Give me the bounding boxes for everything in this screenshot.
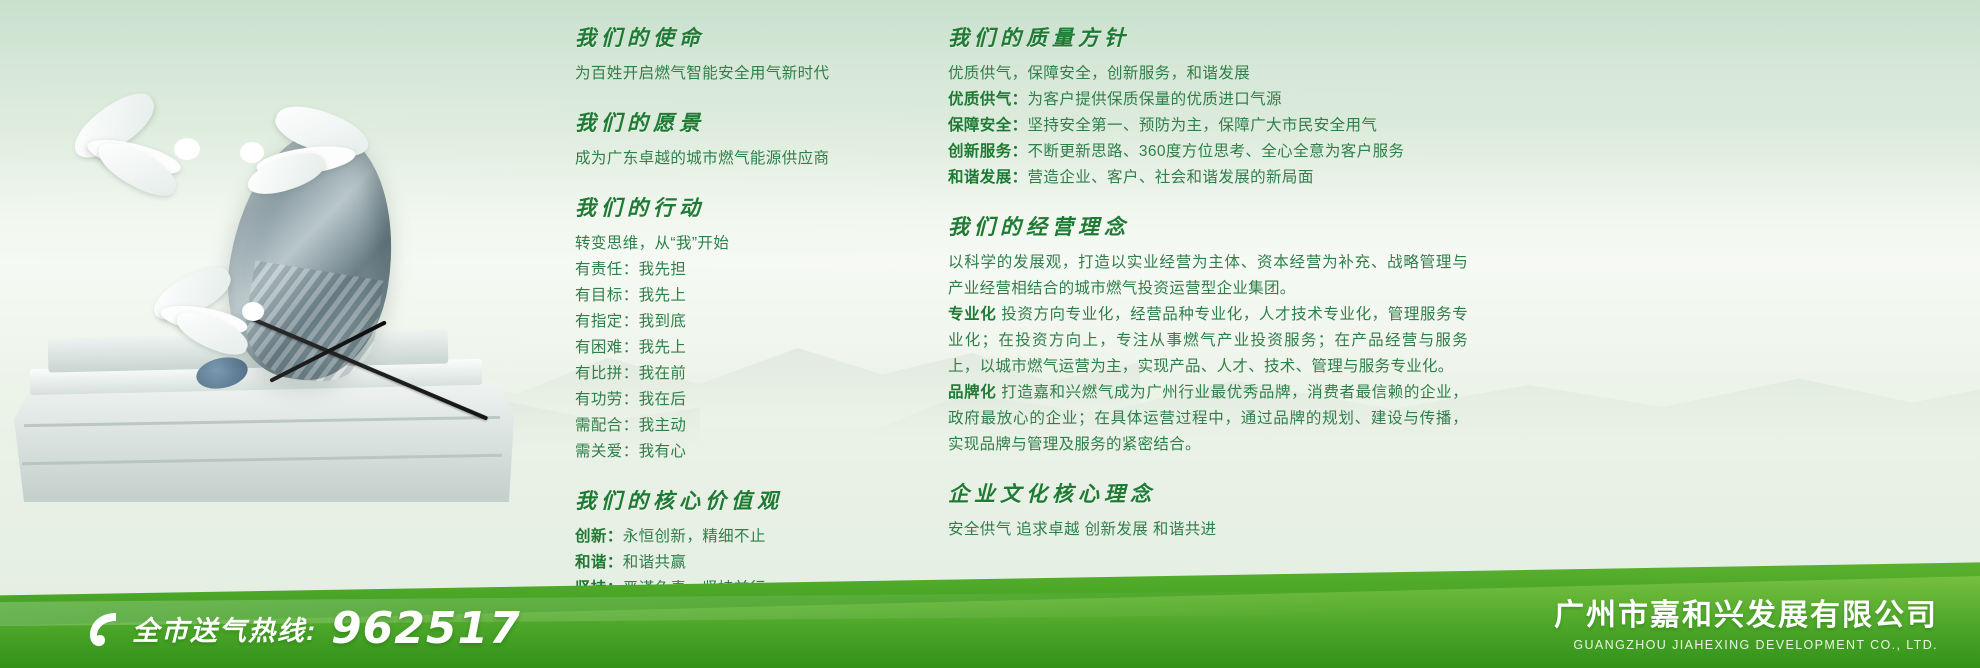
action-item: 有功劳：我在后 [575,387,925,413]
quality-item-text: 坚持安全第一、预防为主，保障广大市民安全用气 [1028,117,1378,134]
action-item: 有责任：我先担 [575,257,925,283]
culture-core-line: 安全供气 追求卓越 创新发展 和谐共进 [948,517,1468,543]
quality-item-sep: ： [1012,143,1028,160]
action-item: 需关爱：我有心 [575,439,925,465]
business-philosophy-heading: 我们的经营理念 [948,211,1468,241]
quality-item-text: 营造企业、客户、社会和谐发展的新局面 [1028,169,1314,186]
core-value-sep: ： [607,528,623,545]
dove-head [242,302,264,321]
philosophy-point-label: 专业化 [948,306,996,323]
philosophy-point-label: 品牌化 [948,384,996,401]
quality-item-label: 保障安全 [948,117,1012,134]
philosophy-point-text: 投资方向专业化，经营品种专业化，人才技术专业化，管理服务专业化；在投资方向上，专… [948,306,1468,375]
quality-item-sep: ： [1012,117,1028,134]
action-item: 需配合：我主动 [575,413,925,439]
culture-core-heading: 企业文化核心理念 [948,478,1468,508]
dove-icon-3 [120,272,280,358]
quality-policy-lead: 优质供气，保障安全，创新服务，和谐发展 [948,61,1468,87]
philosophy-point-text: 打造嘉和兴燃气成为广州行业最优秀品牌，消费者最信赖的企业，政府最放心的企业；在具… [948,384,1468,453]
hotline-label: 全市送气热线: [132,609,317,648]
core-values-heading: 我们的核心价值观 [575,485,925,515]
dove-head [174,138,200,160]
section-mission: 我们的使命 为百姓开启燃气智能安全用气新时代 [575,22,925,87]
dove-icon-1 [28,100,208,196]
core-value-item: 创新：永恒创新，精细不止 [575,524,925,550]
quality-item-label: 和谐发展 [948,169,1012,186]
quality-item-text: 不断更新思路、360度方位思考、全心全意为客户服务 [1028,143,1405,160]
quality-item-label: 优质供气 [948,91,1012,108]
section-quality-policy: 我们的质量方针 优质供气，保障安全，创新服务，和谐发展 优质供气：为客户提供保质… [948,22,1468,191]
business-philosophy-point: 品牌化 打造嘉和兴燃气成为广州行业最优秀品牌，消费者最信赖的企业，政府最放心的企… [948,380,1468,458]
vision-line: 成为广东卓越的城市燃气能源供应商 [575,146,925,172]
quality-item-text: 为客户提供保质保量的优质进口气源 [1028,91,1282,108]
action-item: 有困难：我先上 [575,335,925,361]
mission-heading: 我们的使命 [575,22,925,52]
action-heading: 我们的行动 [575,192,925,222]
dove-head [240,142,264,163]
business-philosophy-point: 专业化 投资方向专业化，经营品种专业化，人才技术专业化，管理服务专业化；在投资方… [948,302,1468,380]
right-text-column: 我们的质量方针 优质供气，保障安全，创新服务，和谐发展 优质供气：为客户提供保质… [948,22,1468,563]
dove-icon-2 [222,108,402,204]
business-philosophy-intro: 以科学的发展观，打造以实业经营为主体、资本经营为补充、战略管理与产业经营相结合的… [948,250,1468,302]
quality-policy-item: 创新服务：不断更新思路、360度方位思考、全心全意为客户服务 [948,139,1468,165]
section-vision: 我们的愿景 成为广东卓越的城市燃气能源供应商 [575,107,925,172]
company-name-en: GUANGZHOU JIAHEXING DEVELOPMENT CO., LTD… [1554,638,1938,652]
footer-bar: 全市送气热线: 962517 广州市嘉和兴发展有限公司 GUANGZHOU JI… [0,558,1980,668]
hotline-number: 962517 [331,603,521,654]
section-culture-core: 企业文化核心理念 安全供气 追求卓越 创新发展 和谐共进 [948,478,1468,543]
action-lead: 转变思维，从“我”开始 [575,231,925,257]
company-brand-block: 广州市嘉和兴发展有限公司 GUANGZHOU JIAHEXING DEVELOP… [1554,590,1938,652]
core-value-label: 创新 [575,528,607,545]
section-business-philosophy: 我们的经营理念 以科学的发展观，打造以实业经营为主体、资本经营为补充、战略管理与… [948,211,1468,458]
quality-item-label: 创新服务 [948,143,1012,160]
section-action: 我们的行动 转变思维，从“我”开始 有责任：我先担 有目标：我先上 有指定：我到… [575,192,925,465]
quality-policy-heading: 我们的质量方针 [948,22,1468,52]
company-name-cn: 广州市嘉和兴发展有限公司 [1554,590,1938,634]
quality-policy-item: 保障安全：坚持安全第一、预防为主，保障广大市民安全用气 [948,113,1468,139]
action-item: 有指定：我到底 [575,309,925,335]
vision-heading: 我们的愿景 [575,107,925,137]
phone-icon [86,609,122,649]
poster-canvas: 我们的使命 为百姓开启燃气智能安全用气新时代 我们的愿景 成为广东卓越的城市燃气… [0,0,1980,668]
core-value-text: 永恒创新，精细不止 [623,528,766,545]
action-item: 有比拼：我在前 [575,361,925,387]
quality-policy-item: 优质供气：为客户提供保质保量的优质进口气源 [948,87,1468,113]
mission-line: 为百姓开启燃气智能安全用气新时代 [575,61,925,87]
hotline-block: 全市送气热线: 962517 [86,603,521,654]
middle-text-column: 我们的使命 为百姓开启燃气智能安全用气新时代 我们的愿景 成为广东卓越的城市燃气… [575,22,925,622]
quality-item-sep: ： [1012,169,1028,186]
action-item: 有目标：我先上 [575,283,925,309]
quality-item-sep: ： [1012,91,1028,108]
quality-policy-item: 和谐发展：营造企业、客户、社会和谐发展的新局面 [948,165,1468,191]
